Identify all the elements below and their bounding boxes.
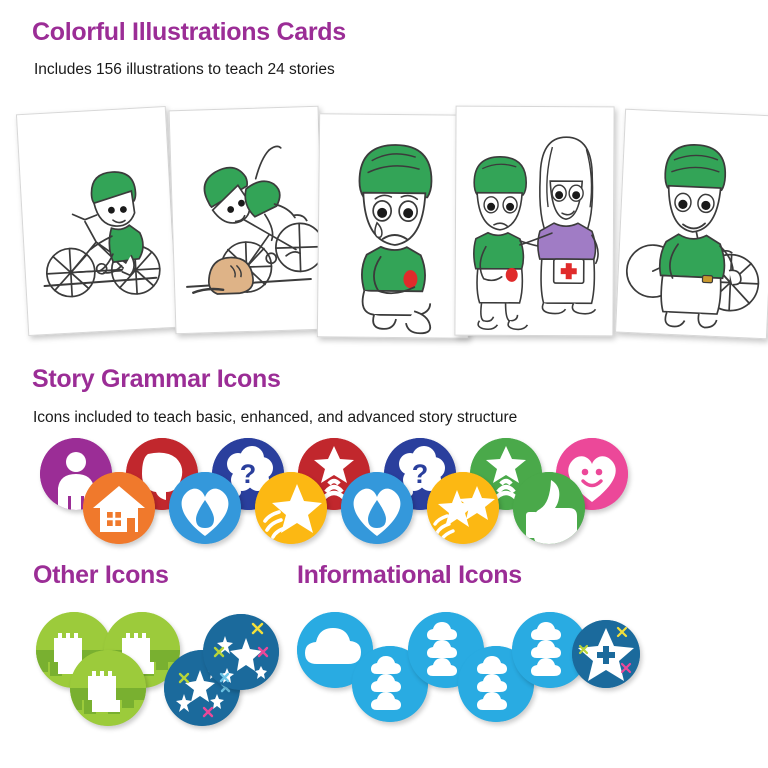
subtitle-colorful-illustrations-cards: Includes 156 illustrations to teach 24 s…	[34, 62, 335, 78]
page-title-colorful-illustrations-cards: Colorful Illustrations Cards	[32, 20, 346, 45]
action-advanced-icon[interactable]	[427, 472, 499, 544]
building-blocks-icon-3[interactable]	[70, 650, 146, 726]
star-plus-icon[interactable]	[572, 620, 640, 688]
feeling-end-icon[interactable]	[341, 472, 413, 544]
card-boy-riding-bike[interactable]	[16, 106, 178, 336]
action-icon[interactable]	[255, 472, 327, 544]
setting-icon[interactable]	[83, 472, 155, 544]
card-boy-walking-bike[interactable]	[615, 109, 768, 340]
card-boy-crying-hurt-knee[interactable]	[317, 113, 471, 339]
sparkle-stars-icon-2[interactable]	[203, 614, 279, 690]
illustration-cards-stack	[0, 96, 768, 346]
page-title-story-grammar-icons: Story Grammar Icons	[32, 367, 281, 392]
thumbs-up-icon[interactable]	[513, 472, 585, 544]
svg-text:?: ?	[412, 459, 429, 489]
card-boy-falling-off-bike[interactable]	[169, 106, 326, 335]
svg-text:?: ?	[240, 459, 257, 489]
feeling-icon[interactable]	[169, 472, 241, 544]
story-grammar-icon-row: ? ?	[0, 432, 768, 552]
page-title-informational-icons: Informational Icons	[297, 563, 522, 588]
subtitle-story-grammar-icons: Icons included to teach basic, enhanced,…	[33, 410, 517, 426]
card-mother-helping-boy[interactable]	[454, 106, 614, 337]
other-and-informational-icon-row	[0, 602, 768, 722]
page-title-other-icons: Other Icons	[33, 563, 169, 588]
